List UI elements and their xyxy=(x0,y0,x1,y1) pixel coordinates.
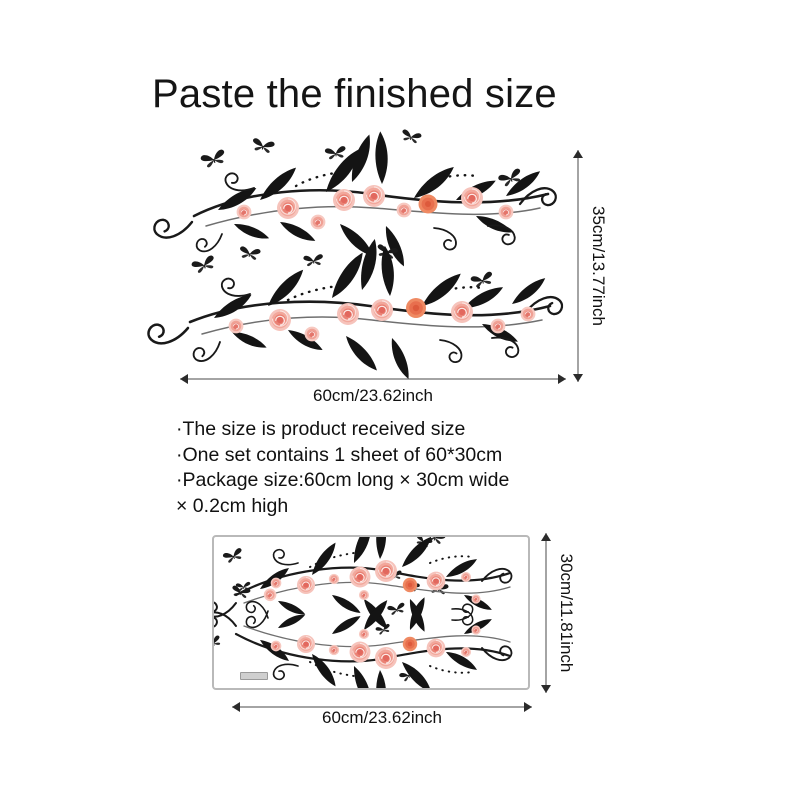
spec-line: ·One set contains 1 sheet of 60*30cm xyxy=(176,443,596,469)
decal-height-dimension xyxy=(570,150,586,382)
decal-height-label-wrap: 35cm/13.77inch xyxy=(586,150,610,382)
decal-preview xyxy=(176,138,566,378)
product-sheet xyxy=(212,535,530,690)
dimension-line xyxy=(578,150,579,382)
decal-width-dimension xyxy=(180,372,566,386)
sheet-sticker xyxy=(240,672,268,680)
decal-width-label: 60cm/23.62inch xyxy=(180,386,566,406)
dimension-line xyxy=(180,379,566,380)
spec-list: ·The size is product received size ·One … xyxy=(176,417,596,519)
decal-height-label: 35cm/13.77inch xyxy=(588,206,608,326)
dimension-line xyxy=(546,533,547,693)
arrow-head-bottom xyxy=(541,685,551,693)
sheet-height-label-wrap: 30cm/11.81inch xyxy=(554,533,578,693)
page-title: Paste the finished size xyxy=(152,72,557,117)
infographic-root: Paste the finished size xyxy=(0,0,800,800)
floral-artwork-row-1 xyxy=(176,138,566,258)
floral-artwork-row-2 xyxy=(176,248,566,368)
arrow-head-right xyxy=(558,374,566,384)
sheet-height-label: 30cm/11.81inch xyxy=(556,554,576,673)
spec-line: ·Package size:60cm long × 30cm wide xyxy=(176,468,596,494)
arrow-head-top xyxy=(541,533,551,541)
arrow-head-bottom xyxy=(573,374,583,382)
decal-row-1 xyxy=(176,138,566,258)
spec-line: ·The size is product received size xyxy=(176,417,596,443)
sheet-height-dimension xyxy=(538,533,554,693)
arrow-head-top xyxy=(573,150,583,158)
sheet-width-label: 60cm/23.62inch xyxy=(232,708,532,728)
sheet-artwork xyxy=(214,537,528,688)
decal-row-2 xyxy=(176,248,566,368)
spec-line: × 0.2cm high xyxy=(176,494,596,520)
arrow-head-left xyxy=(180,374,188,384)
sheet-floral-artwork xyxy=(214,537,530,690)
